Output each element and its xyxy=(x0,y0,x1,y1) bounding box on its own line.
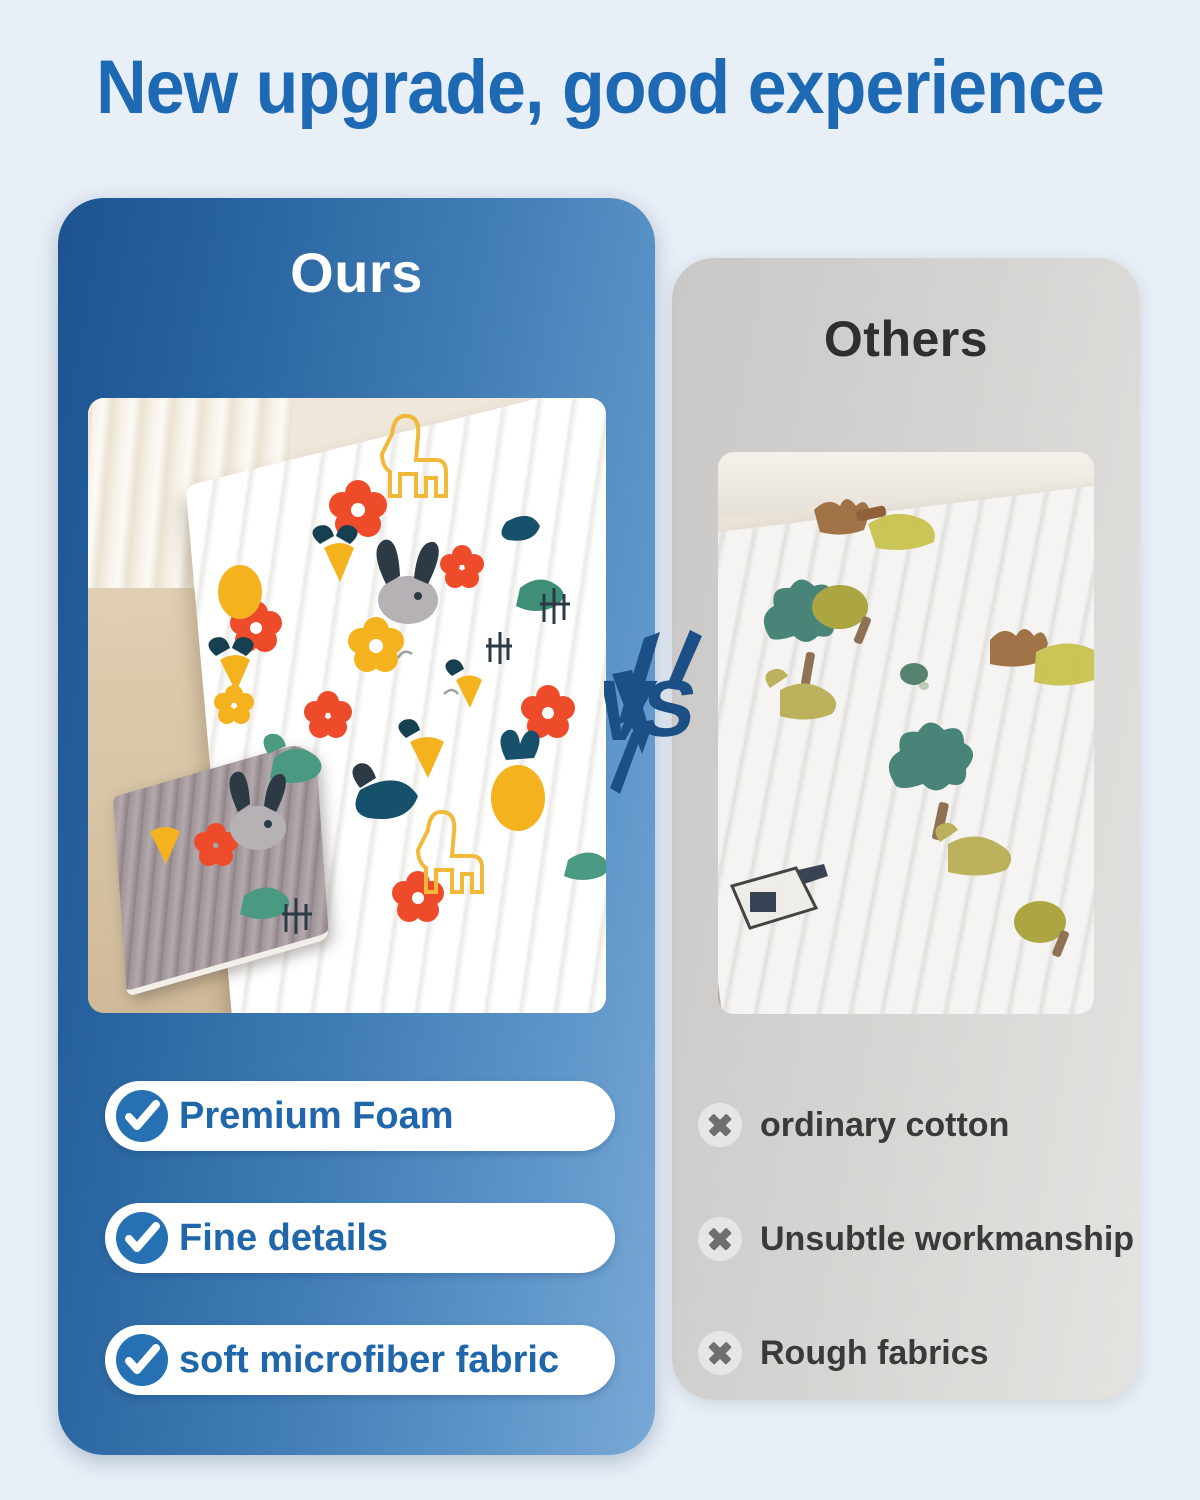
ours-feature-label: Premium Foam xyxy=(179,1095,454,1138)
check-icon xyxy=(116,1090,168,1142)
others-product-photo xyxy=(718,452,1094,1014)
ours-panel: Ours xyxy=(58,198,655,1455)
vs-badge: V S xyxy=(604,628,716,798)
list-item[interactable]: Fine details xyxy=(105,1203,615,1273)
ours-product-photo xyxy=(88,398,606,1013)
others-feature-label: ordinary cotton xyxy=(760,1106,1009,1145)
others-feature-label: Unsubtle workmanship xyxy=(760,1220,1134,1259)
others-panel-heading: Others xyxy=(672,310,1140,368)
list-item[interactable]: Rough fabrics xyxy=(694,1314,1140,1392)
ours-motifs-icon xyxy=(88,398,606,1013)
others-motifs-icon xyxy=(718,452,1094,1014)
comparison-stage: Others xyxy=(0,0,1200,1500)
others-feature-label: Rough fabrics xyxy=(760,1334,989,1373)
others-feature-list: ordinary cotton Unsubtle workmanship Rou… xyxy=(694,1086,1140,1428)
list-item[interactable]: Unsubtle workmanship xyxy=(694,1200,1140,1278)
ours-feature-label: Fine details xyxy=(179,1217,388,1260)
ours-feature-list: Premium Foam Fine details soft microfibe… xyxy=(105,1081,617,1447)
ours-feature-label: soft microfiber fabric xyxy=(179,1339,559,1382)
cross-icon xyxy=(698,1331,742,1375)
others-panel: Others xyxy=(672,258,1140,1400)
ours-panel-heading: Ours xyxy=(58,240,655,305)
list-item[interactable]: Premium Foam xyxy=(105,1081,615,1151)
list-item[interactable]: soft microfiber fabric xyxy=(105,1325,615,1395)
check-icon xyxy=(116,1334,168,1386)
cross-icon xyxy=(698,1217,742,1261)
cross-icon xyxy=(698,1103,742,1147)
list-item[interactable]: ordinary cotton xyxy=(694,1086,1140,1164)
check-icon xyxy=(116,1212,168,1264)
